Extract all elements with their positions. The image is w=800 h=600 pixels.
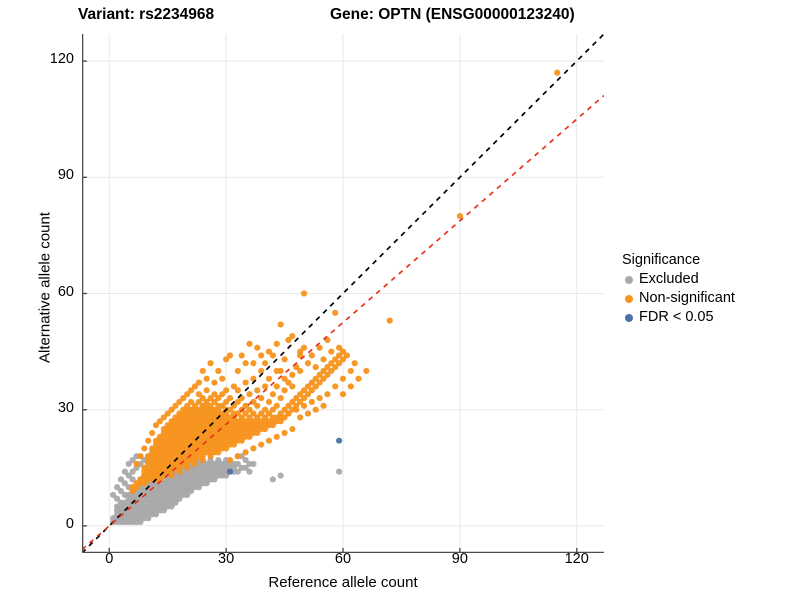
plot-canvas xyxy=(82,34,604,553)
data-point xyxy=(289,372,295,378)
legend-swatch xyxy=(625,276,633,284)
data-point xyxy=(309,399,315,405)
legend-item[interactable]: Non-significant xyxy=(622,289,797,308)
legend-item[interactable]: Excluded xyxy=(622,270,797,289)
data-point xyxy=(301,403,307,409)
data-point xyxy=(235,368,241,374)
data-point xyxy=(246,391,252,397)
data-point xyxy=(301,290,307,296)
data-point xyxy=(297,349,303,355)
data-point xyxy=(340,376,346,382)
x-tick-label: 120 xyxy=(547,551,607,567)
data-point xyxy=(243,360,249,366)
data-point xyxy=(239,438,245,444)
data-point xyxy=(258,352,264,358)
data-point xyxy=(289,383,295,389)
data-point xyxy=(137,453,143,459)
data-point xyxy=(219,376,225,382)
x-axis-label: Reference allele count xyxy=(82,574,604,591)
data-point xyxy=(285,410,291,416)
data-point xyxy=(227,457,233,463)
y-tick-label: 0 xyxy=(28,516,74,532)
data-point xyxy=(243,379,249,385)
data-point xyxy=(348,383,354,389)
chart-title-row: Variant: rs2234968 Gene: OPTN (ENSG00000… xyxy=(0,4,640,30)
x-tick-label: 0 xyxy=(79,551,139,567)
data-point xyxy=(278,395,284,401)
y-tick-label: 90 xyxy=(28,167,74,183)
data-point xyxy=(231,441,237,447)
series-non-significant xyxy=(130,70,561,495)
data-point xyxy=(223,445,229,451)
data-point xyxy=(332,310,338,316)
data-point xyxy=(207,453,213,459)
data-point xyxy=(270,391,276,397)
data-point xyxy=(348,368,354,374)
data-point xyxy=(250,360,256,366)
data-point xyxy=(313,407,319,413)
data-point xyxy=(130,484,136,490)
data-point xyxy=(250,445,256,451)
data-point xyxy=(281,387,287,393)
data-point xyxy=(274,383,280,389)
data-point xyxy=(278,321,284,327)
plot-panel xyxy=(82,34,604,553)
data-point xyxy=(297,368,303,374)
data-point xyxy=(204,376,210,382)
legend-item-label: Excluded xyxy=(639,270,699,289)
data-point xyxy=(554,70,560,76)
x-tick-label: 30 xyxy=(196,551,256,567)
data-point xyxy=(243,449,249,455)
data-point xyxy=(289,426,295,432)
x-tick-label: 60 xyxy=(313,551,373,567)
data-point xyxy=(344,352,350,358)
y-tick-label: 120 xyxy=(28,51,74,67)
gene-title: Gene: OPTN (ENSG00000123240) xyxy=(330,6,575,24)
data-point xyxy=(274,368,280,374)
data-point xyxy=(114,484,120,490)
legend-swatch xyxy=(625,314,633,322)
data-point xyxy=(246,341,252,347)
data-point xyxy=(227,469,233,475)
data-point xyxy=(153,422,159,428)
data-point xyxy=(169,472,175,478)
legend-dot-nonsignificant xyxy=(622,289,636,308)
data-point xyxy=(165,503,171,509)
data-point xyxy=(387,318,393,324)
scatter-plot-figure: Variant: rs2234968 Gene: OPTN (ENSG00000… xyxy=(0,0,800,600)
data-point xyxy=(266,399,272,405)
data-point xyxy=(274,403,280,409)
data-point xyxy=(355,376,361,382)
data-point xyxy=(278,418,284,424)
data-point xyxy=(320,356,326,362)
data-point xyxy=(305,410,311,416)
legend-dot-excluded xyxy=(622,270,636,289)
data-point xyxy=(262,383,268,389)
data-point xyxy=(235,453,241,459)
data-point xyxy=(258,368,264,374)
data-point xyxy=(293,407,299,413)
y-tick-label: 30 xyxy=(28,400,74,416)
legend-item-label: Non-significant xyxy=(639,289,735,308)
data-point xyxy=(149,511,155,517)
data-point xyxy=(215,368,221,374)
data-point xyxy=(266,438,272,444)
data-point xyxy=(157,507,163,513)
data-point xyxy=(200,368,206,374)
data-point xyxy=(204,387,210,393)
data-point xyxy=(281,430,287,436)
data-point xyxy=(133,519,139,525)
data-point xyxy=(207,360,213,366)
data-point xyxy=(278,472,284,478)
data-point xyxy=(266,376,272,382)
data-point xyxy=(211,379,217,385)
data-point xyxy=(149,430,155,436)
data-point xyxy=(336,345,342,351)
legend-dot-fdr xyxy=(622,308,636,327)
data-point xyxy=(118,476,124,482)
data-point xyxy=(215,449,221,455)
data-point xyxy=(254,345,260,351)
data-point xyxy=(235,387,241,393)
x-tick-label: 90 xyxy=(430,551,490,567)
data-point xyxy=(133,461,139,467)
data-points xyxy=(110,70,560,525)
legend: Significance ExcludedNon-significantFDR … xyxy=(622,252,797,327)
y-tick-label: 60 xyxy=(28,284,74,300)
data-point xyxy=(172,500,178,506)
legend-item-label: FDR < 0.05 xyxy=(639,308,714,327)
data-point xyxy=(328,349,334,355)
data-point xyxy=(250,461,256,467)
data-point xyxy=(122,500,128,506)
data-point xyxy=(192,461,198,467)
data-point xyxy=(297,414,303,420)
data-point xyxy=(145,438,151,444)
data-point xyxy=(110,492,116,498)
data-point xyxy=(336,438,342,444)
data-point xyxy=(274,341,280,347)
variant-title: Variant: rs2234968 xyxy=(78,6,214,24)
data-point xyxy=(305,360,311,366)
x-axis-tick-labels: 0306090120 xyxy=(0,551,800,573)
data-point xyxy=(246,434,252,440)
data-point xyxy=(289,333,295,339)
legend-swatch xyxy=(625,295,633,303)
data-point xyxy=(340,391,346,397)
data-point xyxy=(270,476,276,482)
data-point xyxy=(254,430,260,436)
data-point xyxy=(254,403,260,409)
data-point xyxy=(266,349,272,355)
data-point xyxy=(184,465,190,471)
data-point xyxy=(141,515,147,521)
data-point xyxy=(239,352,245,358)
data-point xyxy=(223,387,229,393)
data-point xyxy=(258,441,264,447)
data-point xyxy=(262,426,268,432)
data-point xyxy=(324,391,330,397)
data-point xyxy=(176,469,182,475)
data-point xyxy=(192,383,198,389)
data-point xyxy=(227,352,233,358)
data-point xyxy=(309,352,315,358)
data-point xyxy=(141,445,147,451)
data-point xyxy=(363,368,369,374)
data-point xyxy=(262,360,268,366)
data-point xyxy=(336,469,342,475)
data-point xyxy=(317,395,323,401)
data-point xyxy=(313,364,319,370)
data-point xyxy=(227,395,233,401)
data-point xyxy=(281,376,287,382)
data-point xyxy=(254,387,260,393)
data-point xyxy=(274,434,280,440)
legend-item[interactable]: FDR < 0.05 xyxy=(622,308,797,327)
data-point xyxy=(352,360,358,366)
legend-title: Significance xyxy=(622,252,797,268)
data-point xyxy=(200,457,206,463)
data-point xyxy=(196,484,202,490)
data-point xyxy=(281,356,287,362)
data-point xyxy=(246,469,252,475)
legend-items: ExcludedNon-significantFDR < 0.05 xyxy=(622,270,797,327)
data-point xyxy=(122,469,128,475)
data-point xyxy=(332,383,338,389)
data-point xyxy=(270,422,276,428)
data-point xyxy=(320,403,326,409)
y-axis-tick-labels: 0306090120 xyxy=(22,0,74,600)
